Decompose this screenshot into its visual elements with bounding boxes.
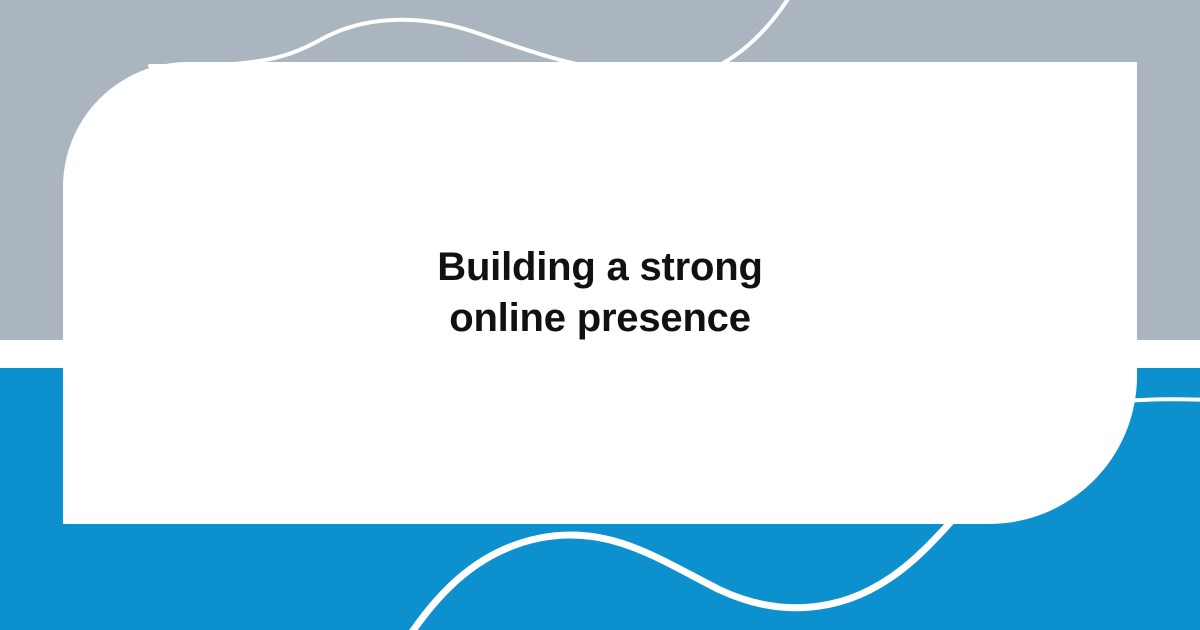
social-card-canvas: Building a strong online presence (0, 0, 1200, 630)
content-card: Building a strong online presence (63, 62, 1137, 524)
card-inner: Building a strong online presence (340, 242, 860, 344)
page-title: Building a strong online presence (340, 242, 860, 344)
